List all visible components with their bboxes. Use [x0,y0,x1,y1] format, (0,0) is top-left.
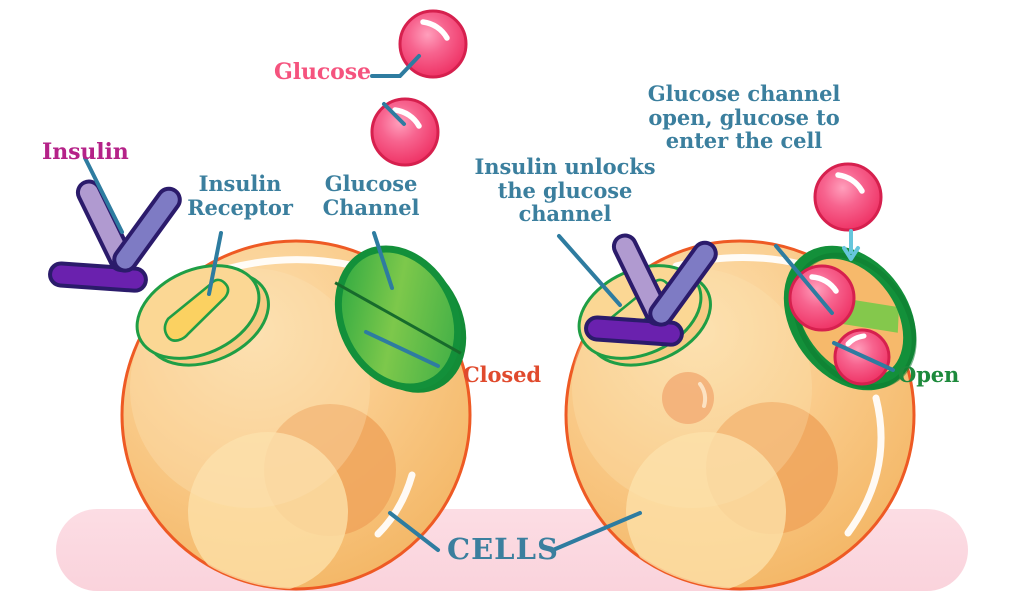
label-glucose-channel: Glucose Channel [310,172,432,219]
glucose-approaching[interactable] [815,164,881,230]
label-channel-open-note: Glucose channel open, glucose to enter t… [640,82,848,153]
label-cells: CELLS [447,533,559,565]
label-glucose: Glucose [274,60,371,85]
label-insulin-receptor: Insulin Receptor [180,172,300,219]
diagram-canvas: Glucose Insulin Insulin Receptor Glucose… [0,0,1024,605]
label-open: Open [898,363,959,387]
label-closed: Closed [463,363,541,387]
label-insulin-unlocks: Insulin unlocks the glucose channel [470,155,660,226]
label-insulin: Insulin [42,140,129,165]
glucose-free-2[interactable] [372,99,438,165]
diagram-artwork [0,0,1024,605]
